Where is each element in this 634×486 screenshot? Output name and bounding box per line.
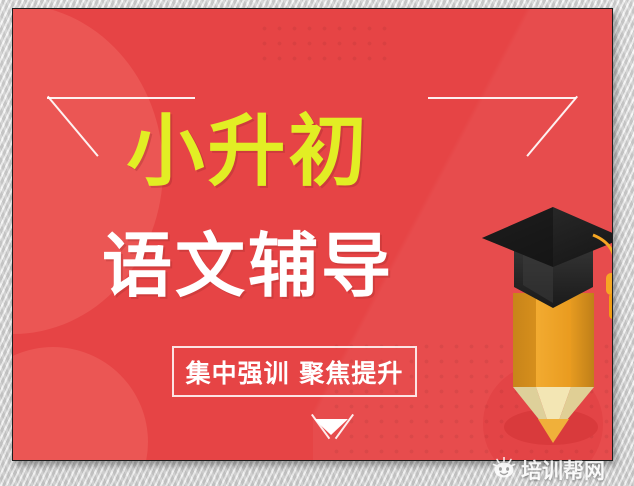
sun-face-icon xyxy=(492,457,516,484)
watermark: 培训帮网 xyxy=(492,456,630,484)
tagline-box: 集中强训 聚焦提升 xyxy=(172,346,417,397)
poster-card: 小升初 语文辅导 集中强训 聚焦提升 xyxy=(12,8,613,461)
bracket-right-bar xyxy=(428,97,576,99)
pencil-graduation-cap-illustration xyxy=(481,205,613,455)
watermark-text: 培训帮网 xyxy=(521,455,605,485)
headline-secondary: 语文辅导 xyxy=(13,231,483,301)
pencil-body-left xyxy=(513,293,536,387)
down-arrow-icon[interactable] xyxy=(301,413,361,455)
pencil-body-right xyxy=(571,293,594,387)
page-backdrop: 小升初 语文辅导 集中强训 聚焦提升 xyxy=(0,0,634,486)
graduation-cap-tassel-knob xyxy=(606,273,613,295)
headline-primary: 小升初 xyxy=(13,113,483,191)
dot-grid-top xyxy=(257,21,391,71)
graduation-cap-tassel-fringe xyxy=(609,293,613,319)
bracket-left-bar xyxy=(47,97,195,99)
decor-circle-left-bottom xyxy=(12,347,148,461)
tagline-text: 集中强训 聚焦提升 xyxy=(174,348,415,395)
